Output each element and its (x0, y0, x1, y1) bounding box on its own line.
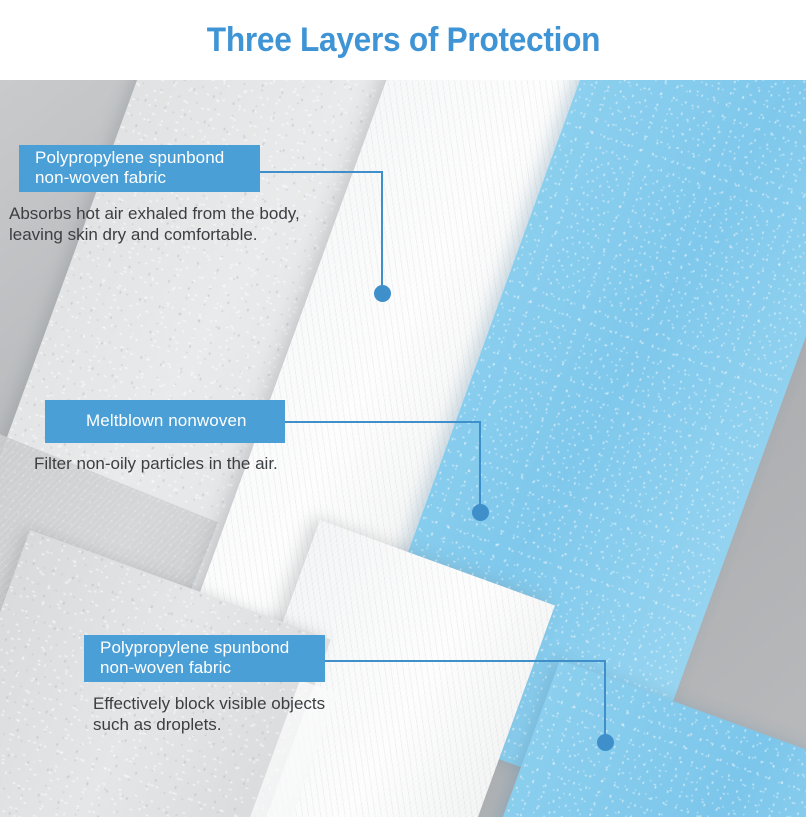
callout-2-endpoint-dot (472, 504, 489, 521)
callout-2-description: Filter non-oily particles in the air. (34, 453, 364, 474)
callout-2-chip[interactable]: Meltblown nonwoven (45, 400, 285, 443)
callout-2-chip-line1: Meltblown nonwoven (61, 411, 271, 431)
callout-3-chip[interactable]: Polypropylene spunbond non-woven fabric (84, 635, 325, 682)
callout-3-leader-vertical (604, 660, 606, 742)
callout-1-chip[interactable]: Polypropylene spunbond non-woven fabric (19, 145, 260, 192)
callout-3-description: Effectively block visible objects such a… (93, 693, 423, 735)
header-bar: Three Layers of Protection (0, 0, 806, 80)
callout-3-description-line1: Effectively block visible objects (93, 694, 325, 713)
callout-2-leader-horizontal (285, 421, 481, 423)
callout-1-description-line1: Absorbs hot air exhaled from the body, (9, 204, 300, 223)
callout-1-leader-horizontal (260, 171, 383, 173)
callout-1-description: Absorbs hot air exhaled from the body, l… (9, 203, 369, 245)
callout-1-leader-vertical (381, 171, 383, 293)
infographic-page: Three Layers of Protection Polypropylene… (0, 0, 806, 817)
callout-3-leader-horizontal (325, 660, 606, 662)
callout-1-chip-line2: non-woven fabric (35, 168, 246, 188)
callout-3-chip-line2: non-woven fabric (100, 658, 311, 678)
callout-3-endpoint-dot (597, 734, 614, 751)
callout-3-description-line2: such as droplets. (93, 714, 423, 735)
callout-1-chip-line1: Polypropylene spunbond (35, 148, 246, 168)
page-title: Three Layers of Protection (206, 21, 599, 60)
callout-1-endpoint-dot (374, 285, 391, 302)
callout-1-description-line2: leaving skin dry and comfortable. (9, 224, 369, 245)
callout-2-description-line1: Filter non-oily particles in the air. (34, 454, 278, 473)
callout-2-leader-vertical (479, 421, 481, 513)
callout-3-chip-line1: Polypropylene spunbond (100, 638, 311, 658)
